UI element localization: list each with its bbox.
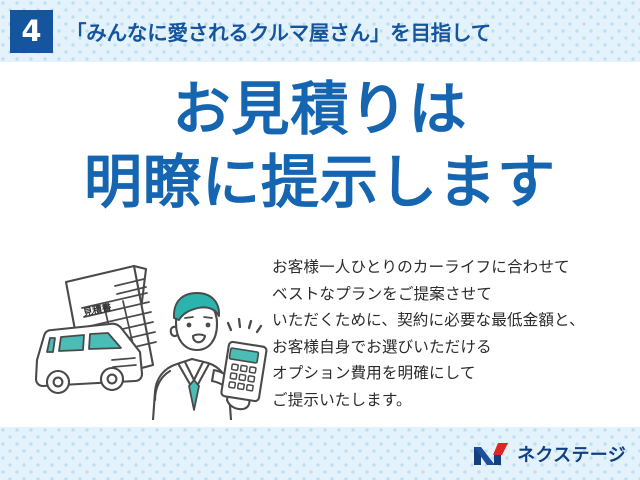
header-title: 「みんなに愛されるクルマ屋さん」を目指して bbox=[66, 16, 491, 46]
brand-logo: ネクステージ bbox=[472, 441, 626, 467]
headline-line-1: お見積りは bbox=[0, 80, 640, 138]
body-paragraph: お客様一人ひとりのカーライフに合わせて ベストなプランをご提案させて いただくた… bbox=[272, 254, 622, 413]
slide-body: お見積りは 明瞭に提示します お客様一人ひとりのカーライフに合わせて ベストなプ… bbox=[0, 62, 640, 427]
body-line: お客様自身でお選びいただける bbox=[272, 334, 622, 361]
body-line: オプション費用を明確にして bbox=[272, 360, 622, 387]
body-line: ご提示いたします。 bbox=[272, 387, 622, 414]
slide-header: 4 「みんなに愛されるクルマ屋さん」を目指して bbox=[0, 0, 640, 62]
sparkle-icon bbox=[228, 319, 261, 332]
slide-footer: ネクステージ bbox=[0, 427, 640, 480]
body-line: いただくために、契約に必要な最低金額と、 bbox=[272, 307, 622, 334]
van-icon bbox=[36, 324, 142, 393]
body-line: ベストなプランをご提案させて bbox=[272, 281, 622, 308]
headline-line-2: 明瞭に提示します bbox=[0, 153, 640, 211]
header-content: 4 「みんなに愛されるクルマ屋さん」を目指して bbox=[0, 0, 640, 62]
section-number-badge: 4 bbox=[10, 10, 53, 53]
nextage-n-logo-icon bbox=[472, 441, 510, 467]
calculator-icon bbox=[221, 341, 267, 401]
promo-slide: 4 「みんなに愛されるクルマ屋さん」を目指して お見積りは 明瞭に提示します お… bbox=[0, 0, 640, 480]
headline-block: お見積りは 明瞭に提示します bbox=[0, 80, 640, 211]
sales-staff-illustration: 見積書 bbox=[22, 252, 272, 420]
body-line: お客様一人ひとりのカーライフに合わせて bbox=[272, 254, 622, 281]
brand-logo-text: ネクステージ bbox=[517, 441, 626, 467]
